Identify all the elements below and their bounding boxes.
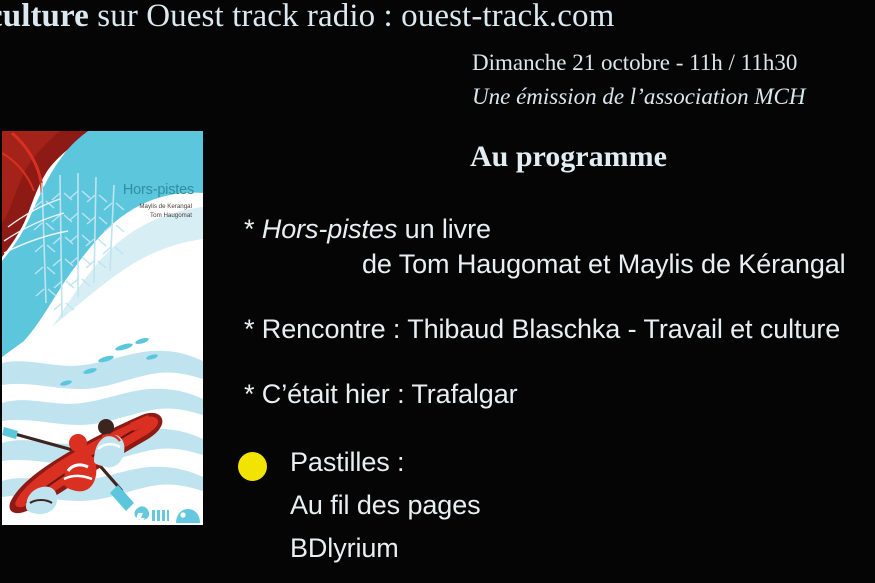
pastilles-label: Pastilles :	[290, 447, 404, 478]
programme-item-rencontre: * Rencontre : Thibaud Blaschka - Travail…	[244, 314, 840, 345]
pastille-bdlyrium: BDlyrium	[290, 533, 399, 564]
header-title-bold: culture	[0, 0, 89, 34]
presentation-slide: culture sur Ouest track radio : ouest-tr…	[0, 0, 875, 583]
pastille-au-fil-des-pages: Au fil des pages	[290, 490, 481, 521]
bullet-asterisk: *	[244, 214, 262, 244]
programme-heading: Au programme	[470, 140, 667, 174]
programme-item-book-authors: de Tom Haugomat et Maylis de Kérangal	[362, 249, 846, 280]
cover-author-1: Maylis de Kerangal	[2, 203, 192, 212]
book-title-italic: Hors-pistes	[262, 214, 397, 244]
cover-author-2: Tom Haugomat	[2, 212, 192, 221]
cover-title-text: Hors-pistes	[2, 182, 194, 198]
slide-header-title: culture sur Ouest track radio : ouest-tr…	[0, 0, 614, 35]
book-title-suffix: un livre	[397, 214, 491, 244]
programme-item-book: * Hors-pistes un livre	[244, 214, 491, 245]
cover-authors-text: Maylis de Kerangal Tom Haugomat	[2, 203, 192, 220]
broadcast-association: Une émission de l’association MCH	[472, 84, 805, 110]
header-title-rest: sur Ouest track radio : ouest-track.com	[89, 0, 614, 34]
programme-item-cetait-hier: * C’était hier : Trafalgar	[244, 379, 518, 410]
broadcast-date-time: Dimanche 21 octobre - 11h / 11h30	[472, 50, 797, 76]
book-cover-image: Hors-pistes Maylis de Kerangal Tom Haugo…	[2, 131, 203, 525]
yellow-bullet-icon	[238, 452, 267, 481]
